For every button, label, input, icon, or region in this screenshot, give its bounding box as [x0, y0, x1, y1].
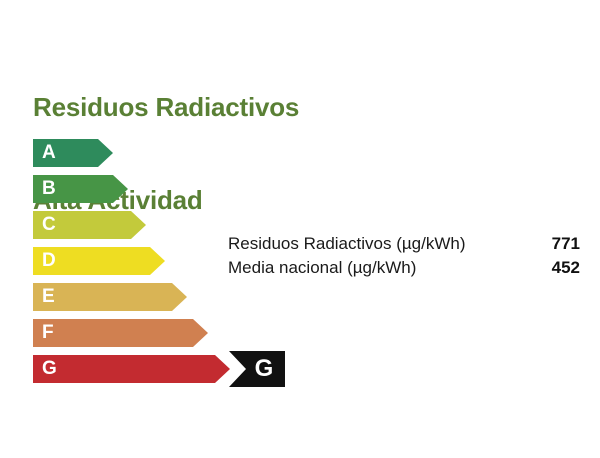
rating-letter-f: F	[42, 319, 54, 347]
energy-label-chart: Residuos Radiactivos Alta Actividad A B …	[0, 0, 600, 458]
readout-label-national-average: Media nacional (µg/kWh)	[228, 256, 416, 280]
rating-bar-g-tip	[215, 355, 230, 383]
current-rating-letter: G	[229, 351, 285, 387]
rating-bar-e-tip	[172, 283, 187, 311]
rating-letter-b: B	[42, 175, 56, 203]
rating-bar-g-body	[33, 355, 215, 383]
rating-bar-f-tip	[193, 319, 208, 347]
rating-letter-c: C	[42, 211, 56, 239]
rating-letter-a: A	[42, 139, 56, 167]
rating-bar-f-body	[33, 319, 193, 347]
rating-letter-g: G	[42, 355, 57, 383]
readout-row-national-average: Media nacional (µg/kWh) 452	[228, 256, 580, 280]
rating-bar-d-tip	[150, 247, 165, 275]
current-rating-marker: G	[229, 351, 285, 387]
readout-row-measured: Residuos Radiactivos (µg/kWh) 771	[228, 232, 580, 256]
rating-letter-d: D	[42, 247, 56, 275]
rating-letter-e: E	[42, 283, 55, 311]
page-title-line-1: Residuos Radiactivos	[33, 92, 299, 123]
readout-value-measured: 771	[552, 232, 580, 256]
rating-bar-c-tip	[131, 211, 146, 239]
rating-bar-a-tip	[98, 139, 113, 167]
rating-bar-b-tip	[113, 175, 128, 203]
readout-table: Residuos Radiactivos (µg/kWh) 771 Media …	[228, 232, 580, 280]
readout-value-national-average: 452	[552, 256, 580, 280]
readout-label-measured: Residuos Radiactivos (µg/kWh)	[228, 232, 466, 256]
